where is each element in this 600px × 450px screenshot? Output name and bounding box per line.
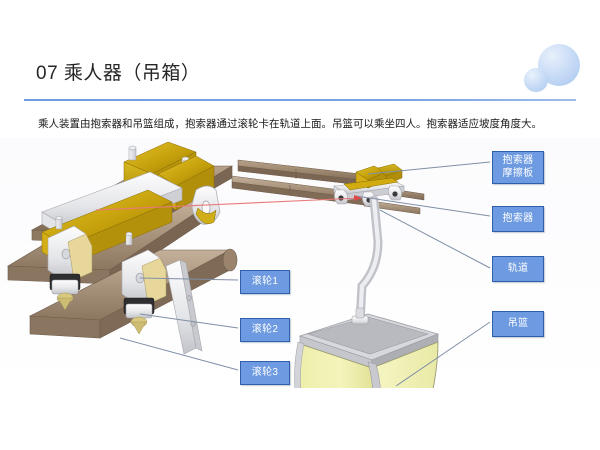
callout-label-rail[interactable]: 轨道 — [492, 256, 544, 282]
callout-label-roller-3[interactable]: 滚轮3 — [240, 361, 290, 385]
slide-subtitle: 乘人装置由抱索器和吊篮组成，抱索器通过滚轮卡在轨道上面。吊篮可以乘坐四人。抱索器… — [38, 117, 578, 131]
page-title: 07 乘人器（吊箱） — [36, 58, 200, 85]
header-decoration — [518, 44, 582, 102]
callout-label-grip-friction-plate[interactable]: 抱索器 摩擦板 — [492, 151, 544, 184]
title-divider — [24, 99, 576, 101]
callout-label-roller-2[interactable]: 滚轮2 — [240, 318, 290, 342]
slide-root: 07 乘人器（吊箱） 乘人装置由抱索器和吊篮组成，抱索器通过滚轮卡在轨道上面。吊… — [0, 0, 600, 450]
callout-label-grip[interactable]: 抱索器 — [492, 206, 544, 232]
callout-label-roller-1[interactable]: 滚轮1 — [240, 270, 290, 294]
callout-label-cabin[interactable]: 吊篮 — [492, 311, 544, 337]
circle-decoration-small-icon — [524, 68, 548, 92]
